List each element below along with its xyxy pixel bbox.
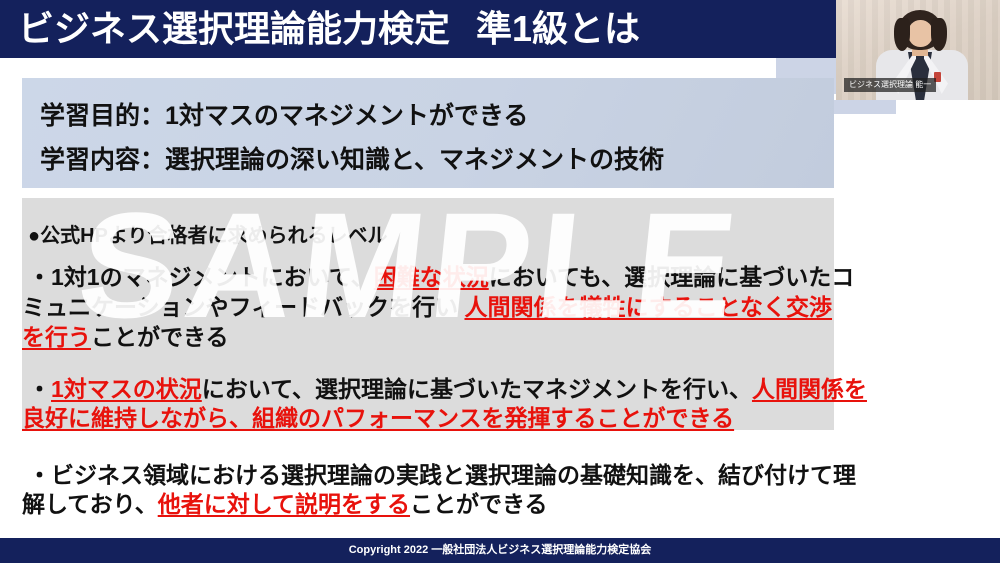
page-title: ビジネス選択理論能力検定準1級とは — [18, 3, 640, 55]
presenter-hair-left — [894, 18, 910, 51]
bullet-1-highlight-c: を行う — [22, 324, 91, 350]
bullet-3-text-b: 解しており、 — [22, 491, 158, 517]
slide-title-bar: ビジネス選択理論能力検定準1級とは — [0, 0, 836, 58]
bullet-1-text-d: ことができる — [91, 324, 229, 350]
learning-content-line: 学習内容：選択理論の深い知識と、マネジメントの技術 — [40, 140, 664, 176]
slide-root: ビジネス選択理論能力検定準1級とは ビジネス選択理論 能一 学習目的：1対マスの… — [0, 0, 1000, 563]
bullet-3-highlight-a: 他者に対して説明をする — [158, 491, 410, 517]
bullet-3-text-c: ことができる — [410, 491, 548, 517]
bullet-1-text-b: においても、選択理論に基づいたコ — [489, 264, 854, 290]
bullet-2-highlight-b: 人間関係を — [752, 376, 867, 402]
page-title-main: ビジネス選択理論能力検定 — [18, 8, 450, 49]
official-hp-heading: ●公式HPより合格者に求められるレベル — [28, 219, 387, 248]
presenter-face — [908, 20, 933, 47]
participant-name-label: ビジネス選択理論 能一 — [844, 78, 936, 92]
bullet-1-text-c: ミュニケーションやフィードバックを行い — [22, 294, 458, 320]
presenter-hair-right — [931, 18, 947, 51]
slide-footer: Copyright 2022 一般社団法人ビジネス選択理論能力検定協会 — [0, 538, 1000, 563]
bullet-1-line-3: を行うことができる — [22, 318, 229, 352]
bullet-3-line-2: 解しており、他者に対して説明をすることができる — [22, 485, 548, 519]
bullet-1-text-a: ・1対1のマネジメントにおいて、 — [28, 264, 374, 290]
bullet-2-line-2: 良好に維持しながら、組織のパフォーマンスを発揮することができる — [22, 399, 734, 433]
bullet-1-line-1: ・1対1のマネジメントにおいて、困難な状況においても、選択理論に基づいたコ — [28, 258, 854, 292]
bullet-1-highlight-b: 人間関係を犠牲にすることなく交渉 — [464, 294, 832, 320]
copyright-text: Copyright 2022 一般社団法人ビジネス選択理論能力検定協会 — [0, 538, 1000, 563]
page-title-sub: 準1級とは — [476, 8, 640, 49]
webcam-video-tile[interactable]: ビジネス選択理論 能一 — [836, 0, 1000, 100]
bullet-2-highlight-c: 良好に維持しながら、組織のパフォーマンスを発揮することができる — [22, 405, 734, 431]
learning-objective-line: 学習目的：1対マスのマネジメントができる — [40, 96, 528, 132]
bullet-1-highlight-a: 困難な状況 — [374, 264, 489, 290]
bullet-1-line-2: ミュニケーションやフィードバックを行い 人間関係を犠牲にすることなく交渉 — [22, 288, 832, 322]
learning-objective-box: 学習目的：1対マスのマネジメントができる 学習内容：選択理論の深い知識と、マネジ… — [22, 78, 834, 188]
